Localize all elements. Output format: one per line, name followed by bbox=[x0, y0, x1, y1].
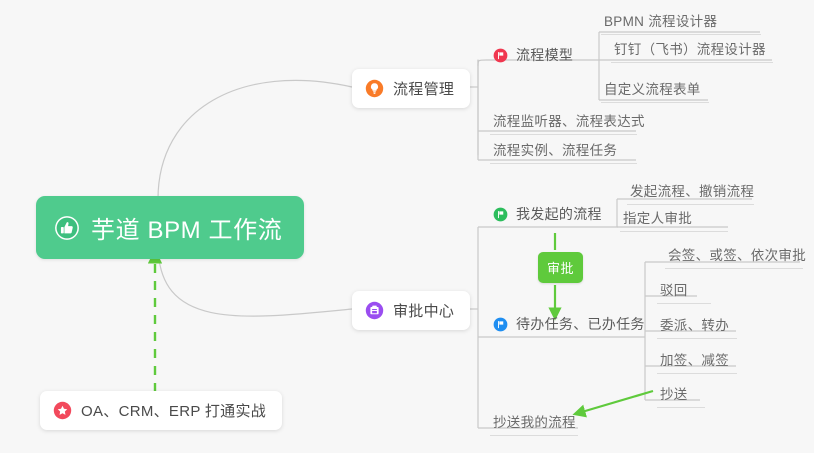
node-process-model[interactable]: 流程模型 bbox=[493, 45, 573, 65]
branch-approval-center[interactable]: 审批中心 bbox=[352, 291, 470, 330]
node-label-my-started-process: 我发起的流程 bbox=[516, 204, 602, 224]
branch-label-process-management: 流程管理 bbox=[393, 78, 454, 99]
leaf-delegate-transfer[interactable]: 委派、转办 bbox=[657, 314, 737, 339]
leaf-label-delegate-transfer: 委派、转办 bbox=[660, 318, 729, 333]
node-label-cc-my-process: 抄送我的流程 bbox=[493, 415, 576, 430]
arrow-cc-to-ccmine bbox=[575, 391, 653, 414]
link-root-to-process-management bbox=[158, 80, 352, 199]
leaf-label-cc: 抄送 bbox=[660, 387, 688, 402]
leaf-assignee-approval[interactable]: 指定人审批 bbox=[620, 207, 728, 232]
approval-tag-label: 审批 bbox=[547, 261, 574, 276]
flag-icon bbox=[493, 317, 508, 332]
leaf-label-bpmn-designer: BPMN 流程设计器 bbox=[604, 14, 717, 29]
leaf-label-reject: 驳回 bbox=[660, 283, 688, 298]
leaf-label-assignee-approval: 指定人审批 bbox=[623, 211, 692, 226]
root-label: 芋道 BPM 工作流 bbox=[91, 210, 282, 245]
approval-tag[interactable]: 审批 bbox=[538, 252, 583, 283]
leaf-cc[interactable]: 抄送 bbox=[657, 383, 705, 408]
leaf-label-custom-form: 自定义流程表单 bbox=[604, 82, 701, 97]
node-my-started-process[interactable]: 我发起的流程 bbox=[493, 204, 602, 224]
thumbs-up-icon bbox=[54, 215, 80, 241]
leaf-bpmn-designer[interactable]: BPMN 流程设计器 bbox=[601, 10, 761, 35]
branch-label-approval-center: 审批中心 bbox=[393, 300, 454, 321]
leaf-countersign[interactable]: 会签、或签、依次审批 bbox=[665, 244, 803, 269]
node-cc-my-process[interactable]: 抄送我的流程 bbox=[490, 411, 578, 436]
clipboard-icon bbox=[365, 301, 384, 320]
leaf-add-remove-sign[interactable]: 加签、减签 bbox=[657, 349, 737, 374]
node-label-process-model: 流程模型 bbox=[516, 45, 573, 65]
leaf-label-listener-expression: 流程监听器、流程表达式 bbox=[493, 114, 645, 129]
leaf-reject[interactable]: 驳回 bbox=[657, 279, 711, 304]
integration-card[interactable]: OA、CRM、ERP 打通实战 bbox=[40, 391, 282, 430]
leaf-label-countersign: 会签、或签、依次审批 bbox=[668, 248, 806, 263]
node-todo-done-task[interactable]: 待办任务、已办任务 bbox=[493, 314, 645, 334]
leaf-dingtalk-designer[interactable]: 钉钉（飞书）流程设计器 bbox=[611, 38, 773, 63]
flag-icon bbox=[493, 48, 508, 63]
integration-card-label: OA、CRM、ERP 打通实战 bbox=[81, 400, 266, 421]
root-node[interactable]: 芋道 BPM 工作流 bbox=[36, 196, 304, 259]
mindmap-canvas: 芋道 BPM 工作流 流程管理 流程模型 BPMN 流程设计器 钉钉（飞书）流程… bbox=[0, 0, 814, 453]
node-label-todo-done-task: 待办任务、已办任务 bbox=[516, 314, 645, 334]
leaf-label-dingtalk-designer: 钉钉（飞书）流程设计器 bbox=[614, 42, 766, 57]
leaf-listener-expression[interactable]: 流程监听器、流程表达式 bbox=[490, 110, 637, 135]
leaf-label-launch-cancel-process: 发起流程、撤销流程 bbox=[630, 184, 754, 199]
star-icon bbox=[53, 401, 72, 420]
leaf-label-add-remove-sign: 加签、减签 bbox=[660, 353, 729, 368]
leaf-label-instance-task: 流程实例、流程任务 bbox=[493, 143, 617, 158]
leaf-launch-cancel-process[interactable]: 发起流程、撤销流程 bbox=[627, 180, 754, 205]
leaf-custom-form[interactable]: 自定义流程表单 bbox=[601, 78, 709, 103]
flag-icon bbox=[493, 207, 508, 222]
lightbulb-icon bbox=[365, 79, 384, 98]
leaf-instance-task[interactable]: 流程实例、流程任务 bbox=[490, 139, 637, 164]
branch-process-management[interactable]: 流程管理 bbox=[352, 69, 470, 108]
